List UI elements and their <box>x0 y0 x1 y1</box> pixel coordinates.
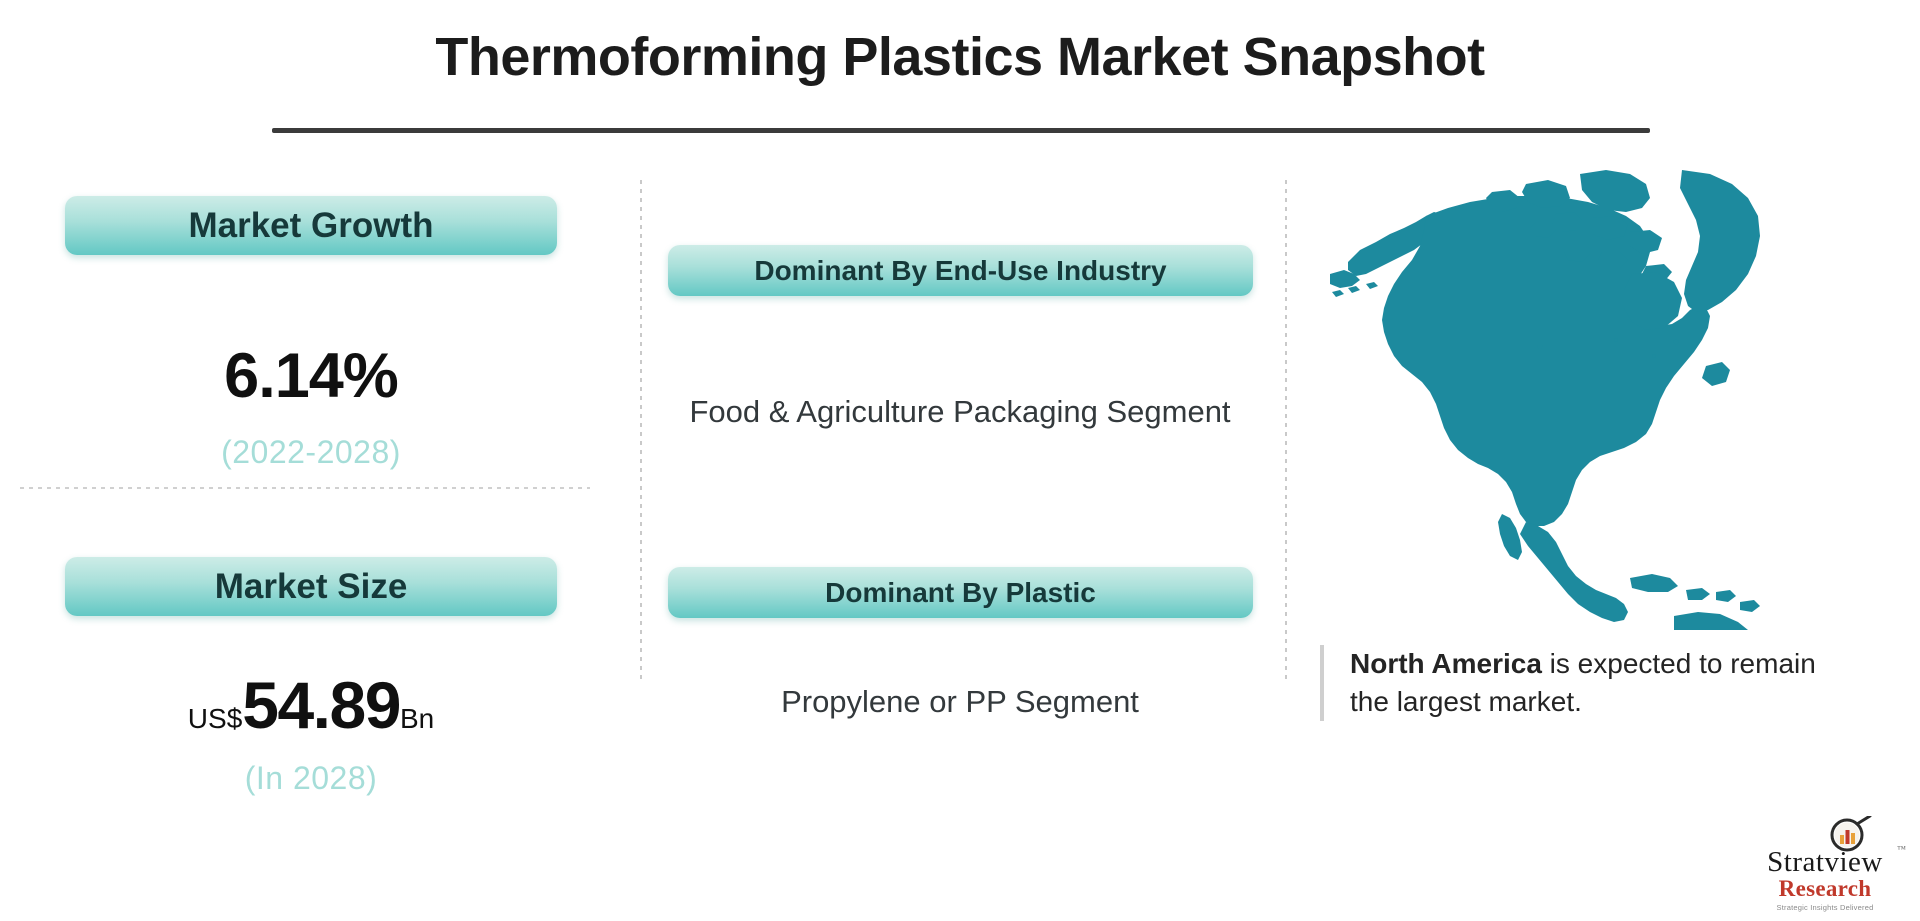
stratview-research-logo: Stratview ™ Research Strategic Insights … <box>1740 818 1910 914</box>
dominant-end-use-industry-text: Food & Agriculture Packaging Segment <box>660 392 1260 432</box>
region-note-region: North America <box>1350 648 1542 679</box>
column-divider-right <box>1285 180 1287 680</box>
pill-market-growth: Market Growth <box>65 196 557 255</box>
market-growth-value: 6.14% <box>65 340 557 412</box>
title-underline-rule <box>272 128 1650 133</box>
dominant-plastic-text: Propylene or PP Segment <box>660 682 1260 722</box>
market-size-currency: US$ <box>188 703 242 735</box>
logo-name: Stratview <box>1740 846 1910 879</box>
region-note: North America is expected to remain the … <box>1320 645 1820 721</box>
left-column-horizontal-divider <box>20 487 590 489</box>
logo-suffix: Research <box>1740 876 1910 902</box>
market-size-unit: Bn <box>400 703 434 735</box>
logo-tagline: Strategic Insights Delivered <box>1740 903 1910 912</box>
market-size-period: (In 2028) <box>65 760 557 797</box>
north-america-map <box>1330 170 1760 630</box>
pill-dominant-end-use-industry: Dominant By End-Use Industry <box>668 245 1253 296</box>
header: Thermoforming Plastics Market Snapshot <box>0 0 1920 150</box>
north-america-map-icon <box>1330 170 1760 630</box>
market-growth-period: (2022-2028) <box>65 434 557 471</box>
pill-market-size: Market Size <box>65 557 557 616</box>
logo-trademark-icon: ™ <box>1897 844 1906 854</box>
market-size-number: 54.89 <box>242 672 400 738</box>
pill-dominant-plastic: Dominant By Plastic <box>668 567 1253 618</box>
column-divider-left <box>640 180 642 680</box>
page-title: Thermoforming Plastics Market Snapshot <box>0 26 1920 88</box>
market-size-value: US$ 54.89 Bn <box>65 672 557 738</box>
